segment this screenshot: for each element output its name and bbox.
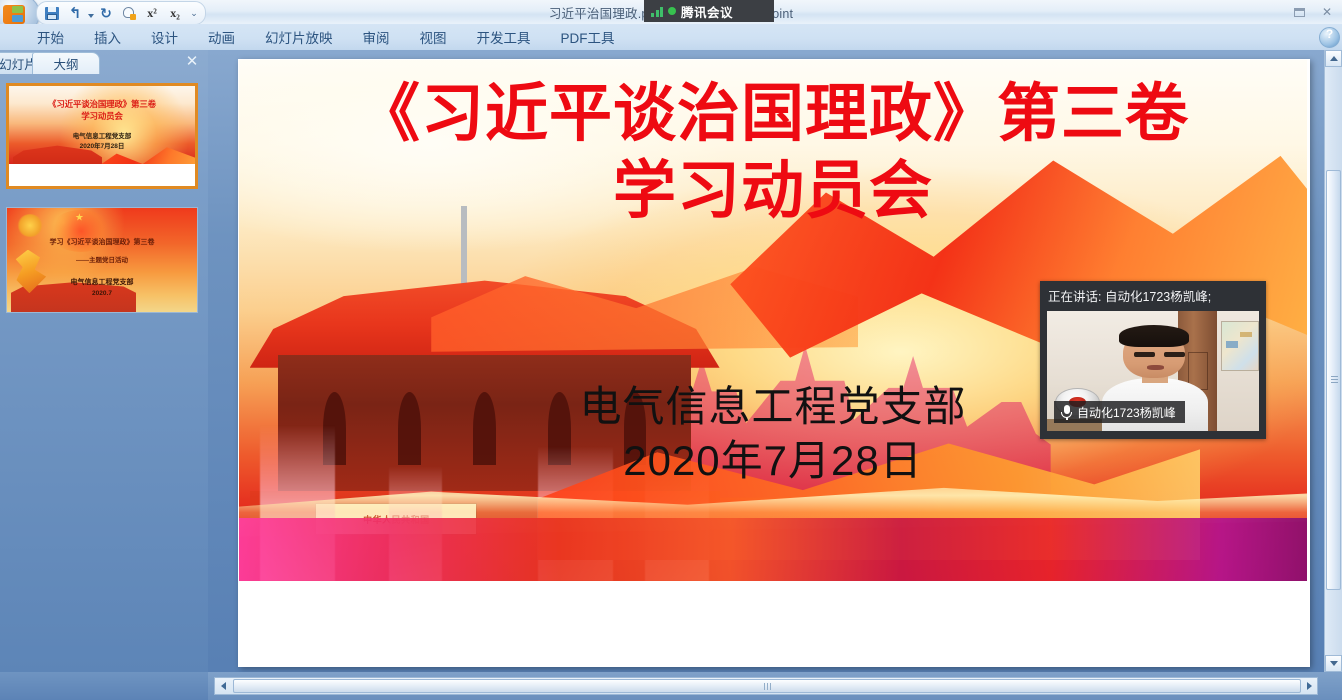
slide-thumbnail-2-canvas: 学习《习近平谈治国理政》第三卷 ——主题党日活动 电气信息工程党支部 2020.… (7, 208, 197, 312)
arrow-up-icon (1330, 56, 1338, 61)
slide-title-line2: 学习动员会 (613, 156, 933, 226)
title-bar: ↰ ↻ x² x₂ ⌄ 习近平治国理政.ppt - Microsoft Powe… (0, 0, 1342, 25)
microphone-icon (1061, 405, 1072, 420)
participant-mouth (1147, 365, 1164, 370)
slide-title-text[interactable]: 《习近平谈治国理政》第三卷 学习动员会 (239, 76, 1307, 230)
meeting-video-overlay[interactable]: 正在讲话: 自动化1723杨凯峰; 自动化1723杨凯峰 (1040, 281, 1266, 439)
scroll-right-button[interactable] (1301, 678, 1317, 694)
participant-eye-left (1134, 352, 1155, 356)
meeting-badge-label: 腾讯会议 (681, 2, 733, 21)
slide-thumbnail-1[interactable]: 《习近平谈治国理政》第三卷 学习动员会 电气信息工程党支部 2020年7月28日 (6, 83, 198, 189)
tab-review[interactable]: 审阅 (348, 24, 405, 50)
scroll-up-button[interactable] (1325, 50, 1342, 67)
pane-tab-outline[interactable]: 大纲 (32, 52, 100, 74)
participant-name: 自动化1723杨凯峰 (1077, 404, 1176, 421)
green-dot-icon (668, 7, 676, 15)
tab-design[interactable]: 设计 (136, 24, 193, 50)
scroll-down-button[interactable] (1325, 655, 1342, 672)
tab-animation[interactable]: 动画 (193, 24, 250, 50)
close-button[interactable]: ✕ (1314, 3, 1340, 21)
thumb1-title-line2: 学习动员会 (81, 111, 123, 121)
ribbon-tabs: 开始 插入 设计 动画 幻灯片放映 审阅 视图 开发工具 PDF工具 (22, 24, 630, 50)
powerpoint-window: ↰ ↻ x² x₂ ⌄ 习近平治国理政.ppt - Microsoft Powe… (0, 0, 1342, 700)
tab-home[interactable]: 开始 (22, 24, 79, 50)
restore-button[interactable] (1286, 3, 1312, 21)
help-icon[interactable] (1319, 27, 1340, 48)
video-feed[interactable]: 自动化1723杨凯峰 (1047, 311, 1259, 431)
signal-bars-icon (651, 6, 663, 17)
close-pane-icon[interactable]: ✕ (184, 53, 200, 69)
slide-thumbnail-2[interactable]: 学习《习近平谈治国理政》第三卷 ——主题党日活动 电气信息工程党支部 2020.… (6, 207, 198, 313)
scrollbar-grip (764, 683, 771, 690)
left-pane-footer (0, 672, 208, 700)
bottom-color-band (239, 518, 1307, 581)
restore-icon (1294, 8, 1305, 17)
arrow-down-icon (1330, 661, 1338, 666)
horizontal-scrollbar-area (208, 672, 1342, 700)
thumb1-sub-line1: 电气信息工程党支部 (73, 133, 132, 140)
vertical-scrollbar[interactable] (1324, 50, 1342, 672)
thumb2-line4: 2020.7 (7, 290, 197, 297)
slides-pane: 幻灯片 大纲 ✕ 《习近平谈治国理政》第三卷 学习动员会 电气信息工程党支部 (0, 50, 208, 672)
slide-thumbnail-1-canvas: 《习近平谈治国理政》第三卷 学习动员会 电气信息工程党支部 2020年7月28日 (9, 86, 195, 186)
active-speaker-label: 正在讲话: 自动化1723杨凯峰; (1040, 281, 1266, 309)
participant-name-badge: 自动化1723杨凯峰 (1054, 401, 1185, 423)
arrow-right-icon (1307, 682, 1312, 690)
ribbon-tab-bar: 开始 插入 设计 动画 幻灯片放映 审阅 视图 开发工具 PDF工具 (0, 24, 1342, 51)
thumb2-line1: 学习《习近平谈治国理政》第三卷 (7, 237, 197, 247)
slide-subtitle-line2: 2020年7月28日 (623, 437, 923, 484)
wall-poster-art (1221, 321, 1259, 371)
scrollbar-grip (1331, 376, 1338, 383)
thumb2-emblem-art (17, 214, 44, 237)
slide-title-line1: 《习近平谈治国理政》第三卷 (357, 79, 1189, 149)
tab-developer[interactable]: 开发工具 (462, 24, 546, 50)
tab-slideshow[interactable]: 幻灯片放映 (250, 24, 348, 50)
participant-eye-right (1164, 352, 1185, 356)
horizontal-scrollbar[interactable] (214, 677, 1318, 695)
slides-pane-tabstrip: 幻灯片 大纲 ✕ (0, 50, 208, 73)
tencent-meeting-badge[interactable]: 腾讯会议 (644, 0, 774, 22)
slide-subtitle-line1: 电气信息工程党支部 (579, 383, 966, 430)
tab-insert[interactable]: 插入 (79, 24, 136, 50)
slide-white-area (239, 581, 1307, 666)
thumb1-title-line1: 《习近平谈治国理政》第三卷 (48, 99, 156, 109)
horizontal-scrollbar-thumb[interactable] (233, 679, 1301, 693)
vertical-scrollbar-thumb[interactable] (1326, 170, 1341, 590)
thumb1-sub-line2: 2020年7月28日 (80, 143, 125, 150)
thumb2-line3: 电气信息工程党支部 (7, 277, 197, 287)
thumb1-subtitle: 电气信息工程党支部 2020年7月28日 (9, 132, 195, 152)
thumb1-title: 《习近平谈治国理政》第三卷 学习动员会 (9, 98, 195, 123)
arrow-left-icon (221, 682, 226, 690)
close-icon: ✕ (1322, 5, 1332, 19)
window-controls: ✕ (1286, 0, 1340, 24)
tab-view[interactable]: 视图 (405, 24, 462, 50)
slide-thumbnail-list: 《习近平谈治国理政》第三卷 学习动员会 电气信息工程党支部 2020年7月28日 (0, 73, 208, 672)
scroll-left-button[interactable] (215, 678, 231, 694)
participant-hair (1119, 325, 1189, 347)
thumb2-line2: ——主题党日活动 (7, 254, 197, 264)
tab-pdf-tools[interactable]: PDF工具 (546, 24, 630, 50)
thumb1-white-band (9, 164, 195, 186)
